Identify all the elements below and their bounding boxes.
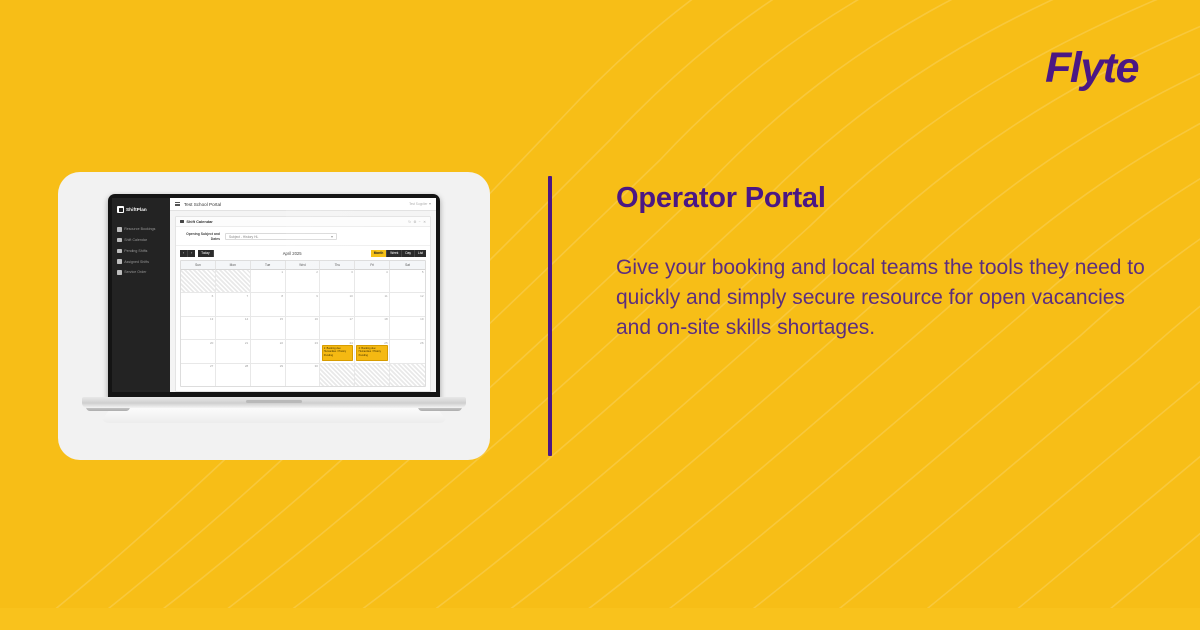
calendar-cell[interactable]: 11 (355, 293, 390, 315)
calendar-day-number: 19 (420, 317, 423, 321)
calendar-day-number: 15 (280, 317, 283, 321)
calendar-cell-disabled (320, 364, 355, 386)
calendar-nav-group: ‹ › (180, 250, 195, 257)
today-button[interactable]: Today (198, 250, 214, 257)
calendar-day-number: 29 (280, 364, 283, 368)
calendar-day-number: 10 (349, 294, 352, 298)
next-month-button[interactable]: › (188, 250, 195, 257)
shiftplan-logo-icon (117, 206, 124, 213)
calendar-event[interactable]: 1: Booking due: Humanities / History Pen… (322, 345, 353, 361)
calendar-view-group: Month Week Day List (371, 250, 426, 257)
calendar-cell[interactable]: 15 (251, 317, 286, 339)
minimize-icon[interactable]: − (419, 220, 421, 224)
filter-label: Opening Subject and Dates (180, 232, 220, 241)
calendar-day-number: 11 (385, 294, 388, 298)
calendar-day-number: 16 (315, 317, 318, 321)
calendar-cell[interactable]: 252: Booking due: Humanities / History P… (355, 340, 390, 362)
dow-mon: Mon (216, 261, 251, 270)
calendar-cell[interactable]: 26 (390, 340, 425, 362)
calendar-day-number: 21 (245, 341, 248, 345)
user-menu[interactable]: Test Supplier (409, 202, 431, 206)
calendar-day-number: 2 (316, 270, 318, 274)
shift-calendar-card: Shift Calendar ↻ ⚙ − ✕ Opening Subject a… (175, 216, 431, 392)
page-title: Test School Portal (184, 202, 221, 207)
app-screen: ShiftPlan Resource Bookings Shift Calend… (112, 198, 436, 392)
app-topbar: Test School Portal Test Supplier (170, 198, 436, 211)
app-main: Test School Portal Test Supplier Shift C… (170, 198, 436, 392)
calendar-day-number: 18 (384, 317, 387, 321)
calendar-cell[interactable]: 20 (181, 340, 216, 362)
calendar-month-title: April 2025 (214, 251, 371, 256)
calendar-day-number: 6 (212, 294, 214, 298)
calendar-grid-icon (117, 238, 122, 243)
filter-selected-value: Subject - History HL (229, 235, 258, 239)
check-icon (117, 259, 122, 264)
body-copy: Give your booking and local teams the to… (616, 253, 1161, 342)
calendar-day-number: 22 (280, 341, 283, 345)
content-block: Operator Portal Give your booking and lo… (548, 176, 1168, 456)
sidebar-item-label: Service Order (124, 270, 146, 274)
calendar-day-number: 7 (247, 294, 249, 298)
calendar-cell[interactable]: 2 (286, 270, 321, 292)
calendar-day-number: 14 (245, 317, 248, 321)
calendar-cell[interactable]: 10 (320, 293, 355, 315)
calendar-cell[interactable]: 16 (286, 317, 321, 339)
calendar-day-number: 30 (315, 364, 318, 368)
laptop-base-shadow (100, 408, 448, 423)
clock-icon (117, 249, 122, 254)
calendar-cell[interactable]: 17 (320, 317, 355, 339)
calendar-cell[interactable]: 5 (390, 270, 425, 292)
calendar-week-row: 13141516171819 (181, 317, 425, 340)
calendar-day-number: 27 (210, 364, 213, 368)
calendar-day-number: 25 (384, 341, 387, 345)
calendar-day-number: 12 (420, 294, 423, 298)
calendar-toolbar: ‹ › Today April 2025 Month Week Day List (176, 246, 430, 260)
sidebar-item-resource-bookings[interactable]: Resource Bookings (112, 226, 170, 233)
card-tools: ↻ ⚙ − ✕ (408, 220, 426, 224)
calendar-day-number: 13 (210, 317, 213, 321)
calendar-day-number: 28 (245, 364, 248, 368)
calendar-cell[interactable]: 4 (355, 270, 390, 292)
calendar-day-number: 9 (316, 294, 318, 298)
calendar-cell[interactable]: 27 (181, 364, 216, 386)
dow-tue: Tue (251, 261, 286, 270)
calendar-week-row: 27282930 (181, 364, 425, 386)
sidebar-item-assigned-shifts[interactable]: Assigned Shifts (112, 258, 170, 265)
calendar-day-number: 20 (210, 341, 213, 345)
laptop-device: ShiftPlan Resource Bookings Shift Calend… (108, 194, 440, 412)
calendar-day-number: 4 (386, 270, 388, 274)
dow-sat: Sat (390, 261, 425, 270)
calendar-icon (180, 220, 184, 223)
laptop-trackpad-notch (246, 400, 302, 403)
sidebar-brand-name: ShiftPlan (126, 207, 147, 212)
refresh-icon[interactable]: ↻ (408, 220, 411, 224)
bottom-accent-strip (0, 608, 1200, 630)
sidebar-item-label: Shift Calendar (124, 238, 147, 242)
laptop-mockup-card: ShiftPlan Resource Bookings Shift Calend… (58, 172, 490, 460)
calendar-week-row: 20212223241: Booking due: Humanities / H… (181, 340, 425, 363)
calendar-cell[interactable]: 23 (286, 340, 321, 362)
laptop-base (82, 397, 466, 408)
calendar-day-number: 24 (349, 341, 352, 345)
calendar-cell[interactable]: 13 (181, 317, 216, 339)
dow-fri: Fri (355, 261, 390, 270)
calendar-cell[interactable]: 18 (355, 317, 390, 339)
card-title: Shift Calendar (186, 219, 212, 224)
calendar-cell[interactable]: 9 (286, 293, 321, 315)
sidebar-item-label: Assigned Shifts (124, 260, 149, 264)
close-icon[interactable]: ✕ (423, 220, 426, 224)
laptop-lid: ShiftPlan Resource Bookings Shift Calend… (108, 194, 440, 401)
calendar-day-number: 17 (349, 317, 352, 321)
view-day-button[interactable]: Day (402, 250, 415, 257)
calendar-grid: Sun Mon Tue Wed Thu Fri Sat 123456789101… (180, 260, 426, 387)
calendar-cell[interactable]: 21 (216, 340, 251, 362)
sidebar-item-label: Resource Bookings (124, 227, 155, 231)
calendar-day-number: 1 (281, 270, 283, 274)
hamburger-menu-icon[interactable] (175, 202, 180, 207)
gear-icon[interactable]: ⚙ (413, 220, 416, 224)
filter-row: Opening Subject and Dates Subject - Hist… (176, 227, 430, 246)
app-sidebar: ShiftPlan Resource Bookings Shift Calend… (112, 198, 170, 392)
calendar-day-number: 8 (281, 294, 283, 298)
calendar-cell[interactable]: 1 (251, 270, 286, 292)
chevron-down-icon (429, 203, 431, 205)
user-menu-label: Test Supplier (409, 202, 427, 206)
view-list-button[interactable]: List (415, 250, 426, 257)
calendar-week-row: 12345 (181, 270, 425, 293)
view-month-button[interactable]: Month (371, 250, 388, 257)
flyte-logo: Flyte (1045, 44, 1138, 93)
calendar-cell-disabled (355, 364, 390, 386)
calendar-cell[interactable]: 19 (390, 317, 425, 339)
headline: Operator Portal (616, 182, 1161, 215)
calendar-cell[interactable]: 7 (216, 293, 251, 315)
prev-month-button[interactable]: ‹ (180, 250, 188, 257)
calendar-cell[interactable]: 8 (251, 293, 286, 315)
calendar-week-row: 6789101112 (181, 293, 425, 316)
calendar-cell[interactable]: 3 (320, 270, 355, 292)
calendar-cell[interactable]: 14 (216, 317, 251, 339)
dow-wed: Wed (286, 261, 321, 270)
calendar-cell[interactable]: 12 (390, 293, 425, 315)
sidebar-brand: ShiftPlan (112, 202, 170, 220)
calendar-day-number: 3 (351, 270, 353, 274)
calendar-cell[interactable]: 29 (251, 364, 286, 386)
dow-thu: Thu (320, 261, 355, 270)
calendar-cell-disabled (216, 270, 251, 292)
calendar-cell[interactable]: 6 (181, 293, 216, 315)
view-week-button[interactable]: Week (387, 250, 402, 257)
calendar-icon (117, 227, 122, 232)
calendar-day-number: 23 (315, 341, 318, 345)
calendar-cell[interactable]: 22 (251, 340, 286, 362)
subject-filter-select[interactable]: Subject - History HL (225, 233, 337, 241)
card-header: Shift Calendar ↻ ⚙ − ✕ (176, 217, 430, 227)
calendar-weeks: 1234567891011121314151617181920212223241… (181, 270, 425, 386)
chevron-down-icon (331, 236, 333, 238)
sidebar-item-pending-shifts[interactable]: Pending Shifts (112, 248, 170, 255)
calendar-cell[interactable]: 28 (216, 364, 251, 386)
sidebar-item-shift-calendar[interactable]: Shift Calendar (112, 237, 170, 244)
calendar-cell-disabled (181, 270, 216, 292)
calendar-day-headers: Sun Mon Tue Wed Thu Fri Sat (181, 261, 425, 270)
sidebar-item-label: Pending Shifts (124, 249, 147, 253)
calendar-cell[interactable]: 241: Booking due: Humanities / History P… (320, 340, 355, 362)
sidebar-nav: Resource Bookings Shift Calendar Pending… (112, 226, 170, 276)
calendar-wrapper: Sun Mon Tue Wed Thu Fri Sat 123456789101… (176, 260, 430, 391)
sidebar-item-service-order[interactable]: Service Order (112, 269, 170, 276)
calendar-day-number: 26 (420, 341, 423, 345)
list-icon (117, 270, 122, 275)
calendar-event[interactable]: 2: Booking due: Humanities / History Pen… (356, 345, 387, 361)
calendar-cell[interactable]: 30 (286, 364, 321, 386)
calendar-cell-disabled (390, 364, 425, 386)
calendar-day-number: 5 (422, 270, 424, 274)
dow-sun: Sun (181, 261, 216, 270)
